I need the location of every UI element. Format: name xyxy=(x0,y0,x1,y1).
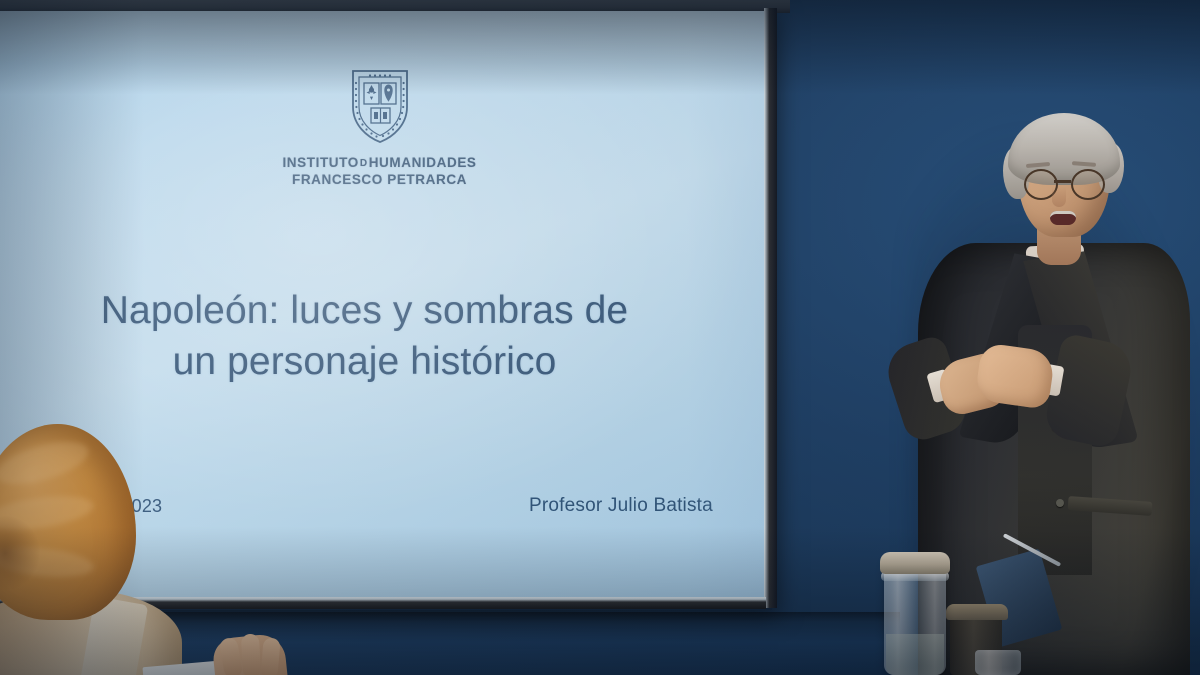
slide-title-line2: un personaje histórico xyxy=(34,337,695,388)
slide-title: Napoleón: luces y sombras de un personaj… xyxy=(34,286,695,387)
slide-speaker-name: Profesor Julio Batista xyxy=(529,495,713,517)
audience-hand-finger-3 xyxy=(260,637,280,675)
institute-name-de: D xyxy=(359,158,369,169)
institute-name-line1-before: INSTITUTO xyxy=(282,155,358,170)
presenter-vest-button-lower xyxy=(1056,499,1064,507)
shield-crest-icon xyxy=(345,63,415,147)
carafe-lid xyxy=(880,552,950,574)
audience-member-foreground xyxy=(0,424,306,675)
presentation-photo-scene: INSTITUTODHUMANIDADES FRANCESCO PETRARCA… xyxy=(0,0,1200,675)
institute-name-line1-after: HUMANIDADES xyxy=(369,155,477,170)
audience-hand-finger-2 xyxy=(241,634,261,675)
eyeglass-bridge xyxy=(1054,180,1071,183)
dark-container-lid xyxy=(946,604,1008,620)
slide-title-line1: Napoleón: luces y sombras de xyxy=(34,286,695,337)
eyeglasses-icon xyxy=(1016,169,1116,199)
institute-name-line2: FRANCESCO PETRARCA xyxy=(282,171,476,188)
drinking-glass xyxy=(975,650,1021,675)
slide-logo-block: INSTITUTODHUMANIDADES FRANCESCO PETRARCA xyxy=(0,63,765,189)
audience-member-hair xyxy=(0,424,136,620)
presenter-nose xyxy=(1052,187,1066,207)
eyeglass-lens-right xyxy=(1071,169,1105,200)
carafe-water-level xyxy=(886,634,944,675)
screen-right-edge xyxy=(764,8,777,608)
hair-highlight-1 xyxy=(0,433,93,492)
institute-name: INSTITUTODHUMANIDADES FRANCESCO PETRARCA xyxy=(282,154,476,189)
presenter-mouth xyxy=(1050,211,1076,225)
